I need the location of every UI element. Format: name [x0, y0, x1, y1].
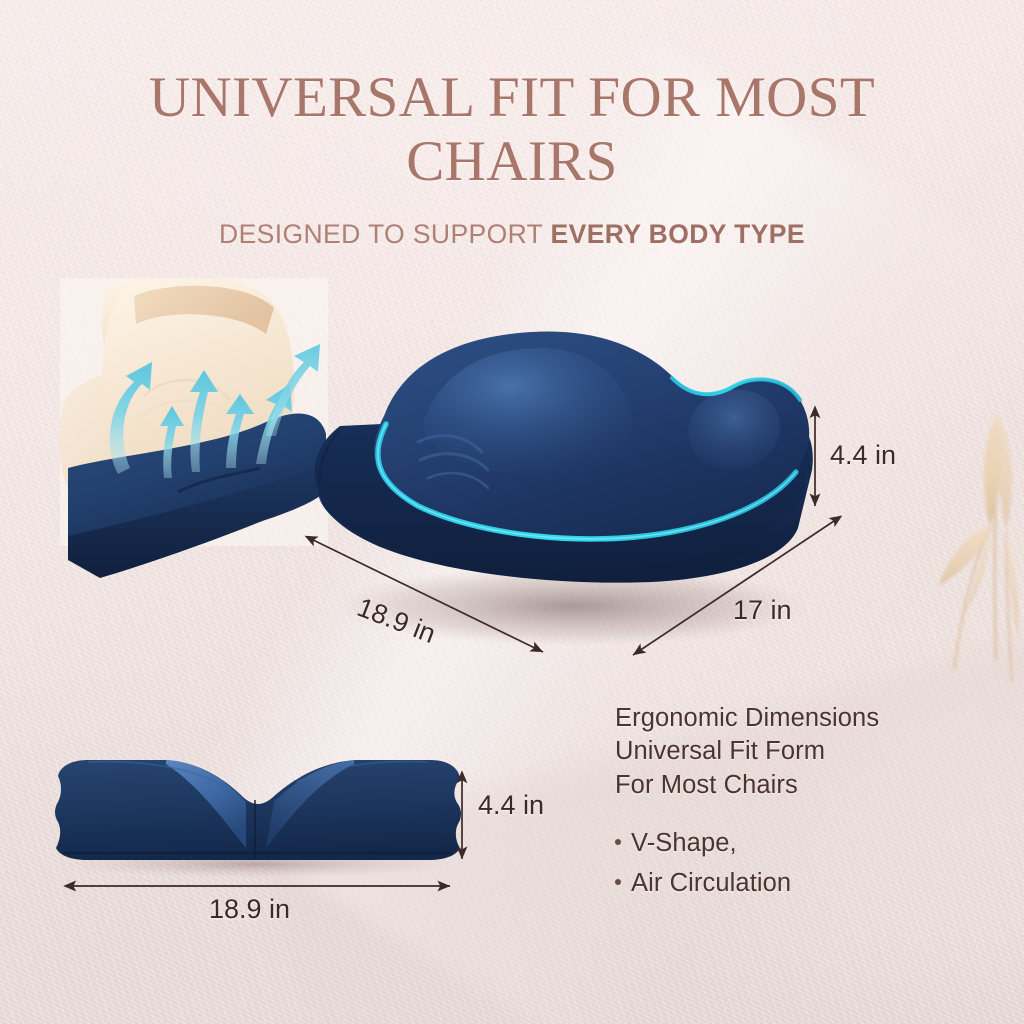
dimension-arrow-main-depth [633, 517, 840, 655]
page-title-line-1: UNIVERSAL FIT FOR MOST [0, 66, 1024, 130]
dimension-label-main-width: 18.9 in [353, 592, 440, 650]
subtitle-regular-text: DESIGNED TO SUPPORT [219, 219, 551, 249]
feature-copy-block: Ergonomic Dimensions Universal Fit Form … [615, 702, 879, 903]
dimension-label-side-height: 4.4 in [478, 790, 544, 821]
feature-bullet-list: V-Shape, Air Circulation [615, 824, 879, 903]
seat-cushion-side-profile-view [48, 752, 468, 882]
feature-bullet-item: V-Shape, [615, 824, 879, 864]
bullet-dot-icon [615, 879, 621, 885]
bullet-dot-icon [615, 839, 621, 845]
infographic-canvas: UNIVERSAL FIT FOR MOST CHAIRS DESIGNED T… [0, 0, 1024, 1024]
subtitle-bold-text: EVERY BODY TYPE [551, 219, 805, 249]
dimension-label-side-width: 18.9 in [209, 894, 290, 925]
dimension-label-main-depth: 17 in [733, 595, 792, 626]
feature-bullet-item: Air Circulation [615, 864, 879, 904]
copy-line-2: Universal Fit Form [615, 735, 879, 768]
copy-line-1: Ergonomic Dimensions [615, 702, 879, 735]
feature-bullet-label: Air Circulation [631, 864, 791, 904]
page-title-line-2: CHAIRS [0, 130, 1024, 194]
page-subtitle: DESIGNED TO SUPPORT EVERY BODY TYPE [0, 219, 1024, 250]
pampas-grass-decoration [894, 360, 1024, 690]
copy-line-3: For Most Chairs [615, 769, 879, 802]
feature-bullet-label: V-Shape, [631, 824, 737, 864]
airflow-cutaway-illustration [60, 278, 360, 588]
page-title: UNIVERSAL FIT FOR MOST CHAIRS [0, 66, 1024, 194]
dimension-label-main-height: 4.4 in [830, 440, 896, 471]
